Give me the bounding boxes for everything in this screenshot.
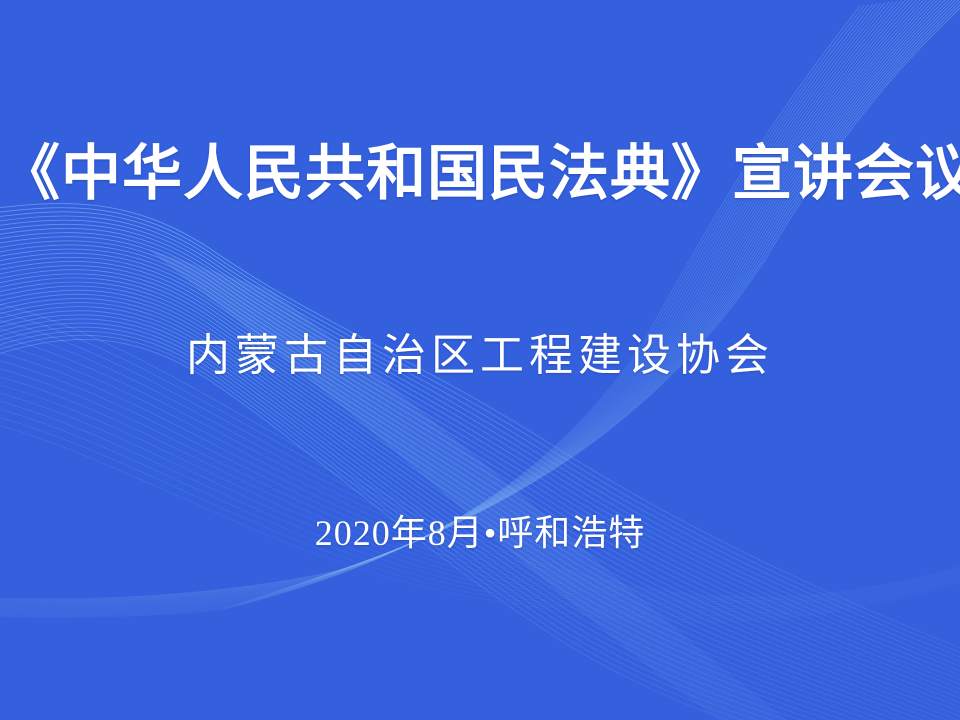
- title-slide: 《中华人民共和国民法典》宣讲会议 内蒙古自治区工程建设协会 2020年8月•呼和…: [0, 0, 960, 720]
- page-title: 《中华人民共和国民法典》宣讲会议: [0, 136, 960, 212]
- event-date-location: 2020年8月•呼和浩特: [0, 508, 960, 558]
- organization-subtitle: 内蒙古自治区工程建设协会: [0, 326, 960, 386]
- slide-text-content: 《中华人民共和国民法典》宣讲会议 内蒙古自治区工程建设协会 2020年8月•呼和…: [0, 0, 960, 720]
